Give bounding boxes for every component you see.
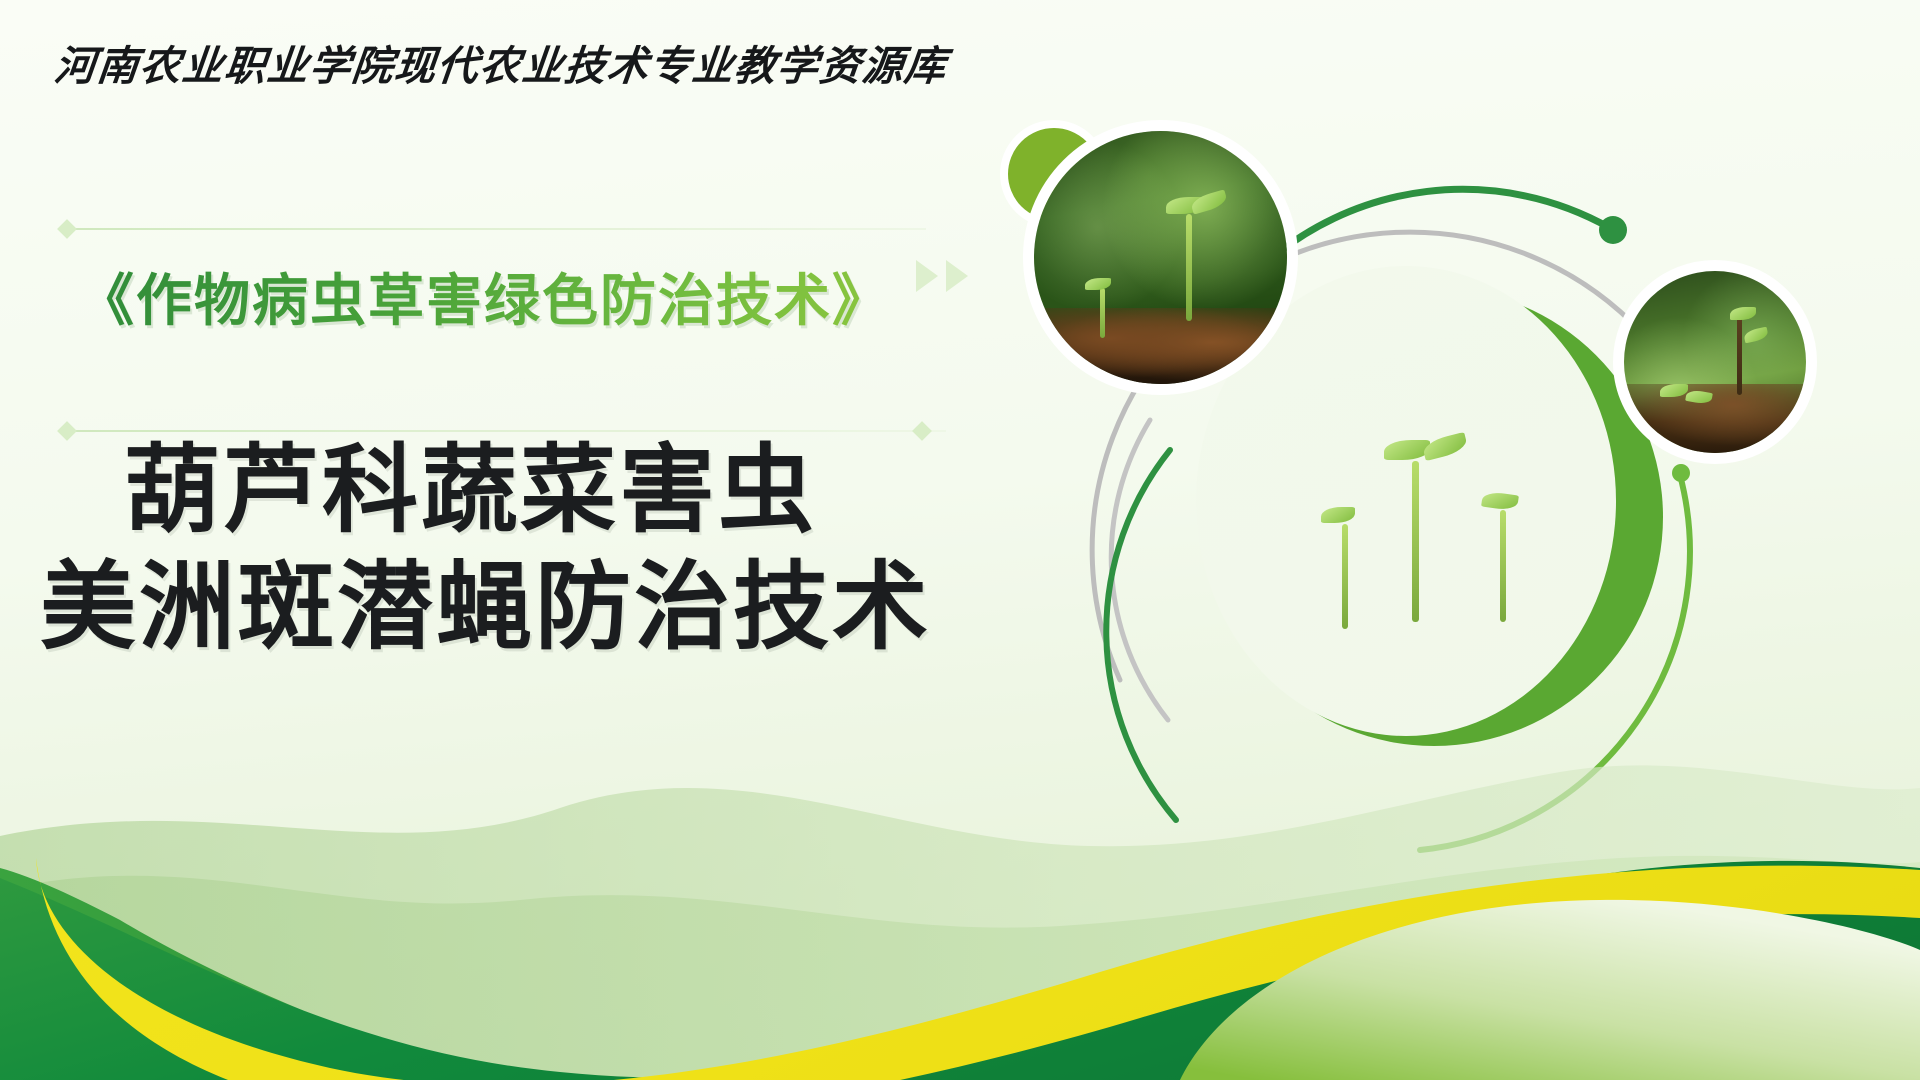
main-title-line-1: 葫芦科蔬菜害虫: [40, 432, 931, 549]
young-plants-field-photo: [1624, 271, 1806, 453]
sprout-stem: [1186, 214, 1192, 320]
sprout-in-soil-photo: [1034, 131, 1287, 384]
series-title: 《作物病虫草害绿色防治技术》: [78, 256, 890, 337]
chevron-accent-two: [946, 260, 968, 292]
sprout-stem: [1500, 510, 1506, 622]
green-dot-marker: [1599, 216, 1627, 244]
plant-stem: [1737, 311, 1742, 395]
light-green-dot-marker: [1672, 464, 1690, 482]
green-arc-top: [1258, 189, 1610, 270]
institution-title: 河南农业职业学院现代农业技术专业教学资源库: [52, 32, 951, 92]
photo-top-left: [1023, 120, 1298, 395]
slide-canvas: 河南农业职业学院现代农业技术专业教学资源库 《作物病虫草害绿色防治技术》 葫芦科…: [0, 0, 1920, 1080]
chevron-accent-one: [916, 260, 938, 292]
photo-right: [1613, 260, 1817, 464]
sprout-stem: [1100, 288, 1105, 339]
decorative-diamond-top-left: [57, 219, 77, 239]
main-title-line-2: 美洲斑潜蝇防治技术: [40, 549, 931, 666]
header: 河南农业职业学院现代农业技术专业教学资源库: [55, 32, 948, 92]
decorative-rule-top: [66, 228, 926, 230]
sprout-stem: [1412, 461, 1419, 622]
bottom-wave-decoration: [0, 750, 1920, 1080]
sprout-stem: [1342, 524, 1348, 629]
page-title: 葫芦科蔬菜害虫 美洲斑潜蝇防治技术: [40, 432, 931, 666]
